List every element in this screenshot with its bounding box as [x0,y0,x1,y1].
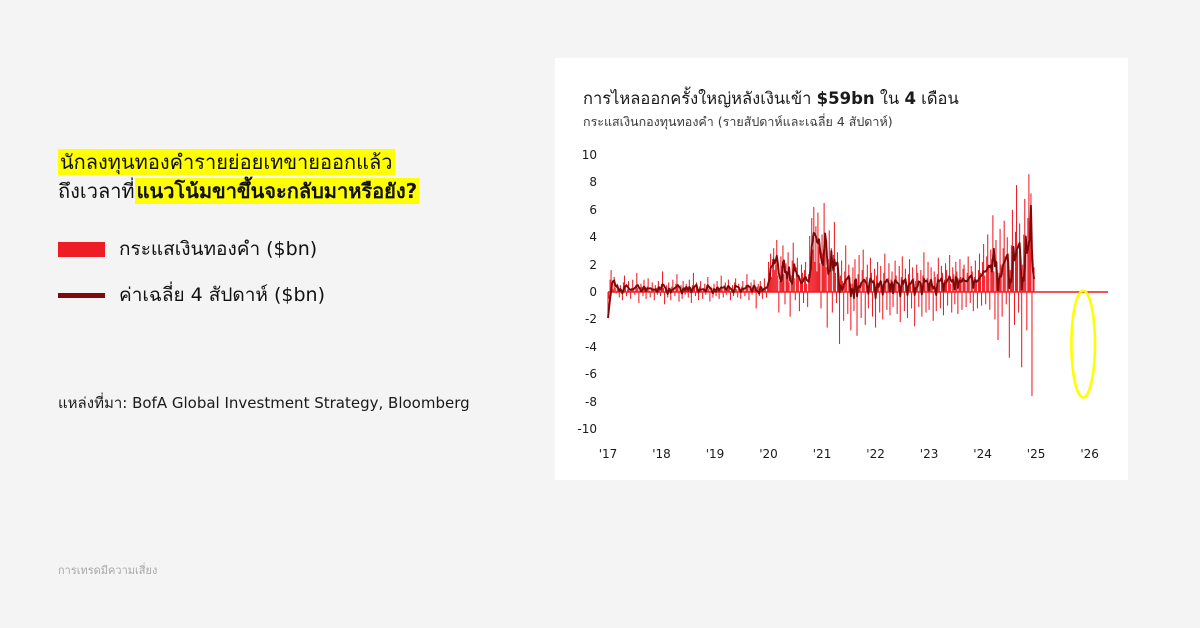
y-axis-tick-label: 4 [555,230,597,244]
chart-series-svg [555,58,1128,480]
y-axis-tick-label: -2 [555,312,597,326]
legend-label-flows: กระแสเงินทองคำ ($bn) [119,234,317,264]
y-axis-tick-label: -10 [555,422,597,436]
legend-item-average: ค่าเฉลี่ย 4 สัปดาห์ ($bn) [58,278,528,312]
y-axis-tick-label: -8 [555,395,597,409]
y-axis-tick-label: 0 [555,285,597,299]
chart-panel: การไหลออกครั้งใหญ่หลังเงินเข้า $59bn ใน … [555,58,1128,480]
headline-line-1-text: นักลงทุนทองคำรายย่อยเทขายออกแล้ว [58,149,395,175]
x-axis-tick-label: '25 [1027,447,1046,461]
headline-line-2-plain: ถึงเวลาที่ [58,179,135,203]
x-axis-tick-label: '26 [1080,447,1099,461]
chart-legend: กระแสเงินทองคำ ($bn) ค่าเฉลี่ย 4 สัปดาห์… [58,232,528,312]
x-axis-tick-label: '21 [813,447,832,461]
bar-series [607,174,1034,396]
y-axis-tick-label: 6 [555,203,597,217]
y-axis-tick-label: 10 [555,148,597,162]
x-axis-tick-label: '23 [920,447,939,461]
legend-swatch-box-icon [58,242,105,257]
y-axis-tick-label: -6 [555,367,597,381]
x-axis-tick-label: '19 [706,447,725,461]
headline-line-2: ถึงเวลาที่แนวโน้มขาขึ้นจะกลับมาหรือยัง? [58,177,528,206]
x-axis-tick-label: '22 [866,447,885,461]
legend-swatch-line-icon [58,293,105,298]
left-content-column: นักลงทุนทองคำรายย่อยเทขายออกแล้ว ถึงเวลา… [58,148,528,324]
y-axis-tick-label: 2 [555,258,597,272]
risk-disclaimer: การเทรดมีความเสี่ยง [58,561,157,579]
chart-plot-area: 1086420-2-4-6-8-10'17'18'19'20'21'22'23'… [555,58,1128,480]
headline-line-1: นักลงทุนทองคำรายย่อยเทขายออกแล้ว [58,148,528,177]
headline: นักลงทุนทองคำรายย่อยเทขายออกแล้ว ถึงเวลา… [58,148,528,206]
legend-label-average: ค่าเฉลี่ย 4 สัปดาห์ ($bn) [119,280,325,310]
headline-line-2-highlight: แนวโน้มขาขึ้นจะกลับมาหรือยัง? [135,178,420,204]
x-axis-tick-label: '20 [759,447,778,461]
y-axis-tick-label: 8 [555,175,597,189]
x-axis-tick-label: '17 [599,447,618,461]
x-axis-tick-label: '18 [652,447,671,461]
legend-item-flows: กระแสเงินทองคำ ($bn) [58,232,528,266]
y-axis-tick-label: -4 [555,340,597,354]
highlight-ellipse-annotation [1071,291,1095,398]
x-axis-tick-label: '24 [973,447,992,461]
source-note: แหล่งที่มา: BofA Global Investment Strat… [58,391,470,415]
